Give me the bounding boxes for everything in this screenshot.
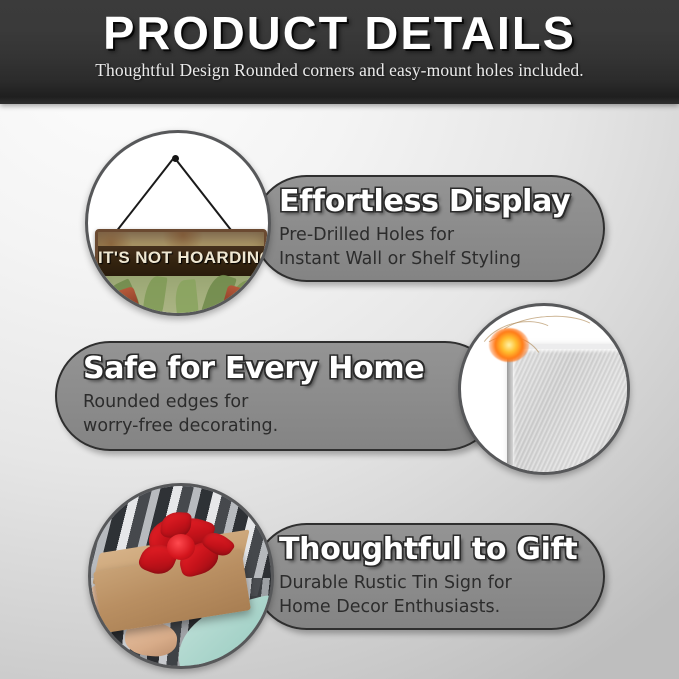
product-details-infographic: PRODUCT DETAILS Thoughtful Design Rounde… — [0, 0, 679, 679]
feature-line-2: Instant Wall or Shelf Styling — [279, 247, 570, 272]
cord-left — [111, 157, 175, 238]
feature-image-hanging-tin-sign: IT'S NOT HOARDING — [85, 130, 271, 316]
feature-panel-safe-for-every-home: Safe for Every Home Rounded edges for wo… — [55, 341, 500, 451]
page-title: PRODUCT DETAILS — [0, 6, 679, 60]
page-subtitle: Thoughtful Design Rounded corners and ea… — [0, 60, 679, 81]
spark-highlight-icon — [489, 328, 529, 362]
feature-line-1: Rounded edges for — [83, 390, 424, 415]
tin-sign-text: IT'S NOT HOARDING — [98, 248, 264, 268]
feature-panel-thoughtful-to-gift: Thoughtful to Gift Durable Rustic Tin Si… — [253, 523, 605, 630]
feature-line-2: worry-free decorating. — [83, 414, 424, 439]
feature-title: Thoughtful to Gift — [279, 534, 577, 566]
feature-panel-effortless-display: Effortless Display Pre-Drilled Holes for… — [253, 175, 605, 282]
tin-sign-artwork: IT'S NOT HOARDING — [95, 229, 267, 316]
feature-title: Safe for Every Home — [83, 353, 424, 385]
cord-right — [175, 158, 239, 239]
feature-line-1: Durable Rustic Tin Sign for — [279, 571, 577, 596]
header-banner: PRODUCT DETAILS Thoughtful Design Rounde… — [0, 0, 679, 104]
gift-bow — [167, 534, 195, 560]
feature-line-2: Home Decor Enthusiasts. — [279, 595, 577, 620]
feature-title: Effortless Display — [279, 186, 570, 218]
feature-image-gift-box-handover — [88, 483, 274, 669]
feature-image-rounded-metal-corner — [458, 303, 630, 475]
feature-line-1: Pre-Drilled Holes for — [279, 223, 570, 248]
